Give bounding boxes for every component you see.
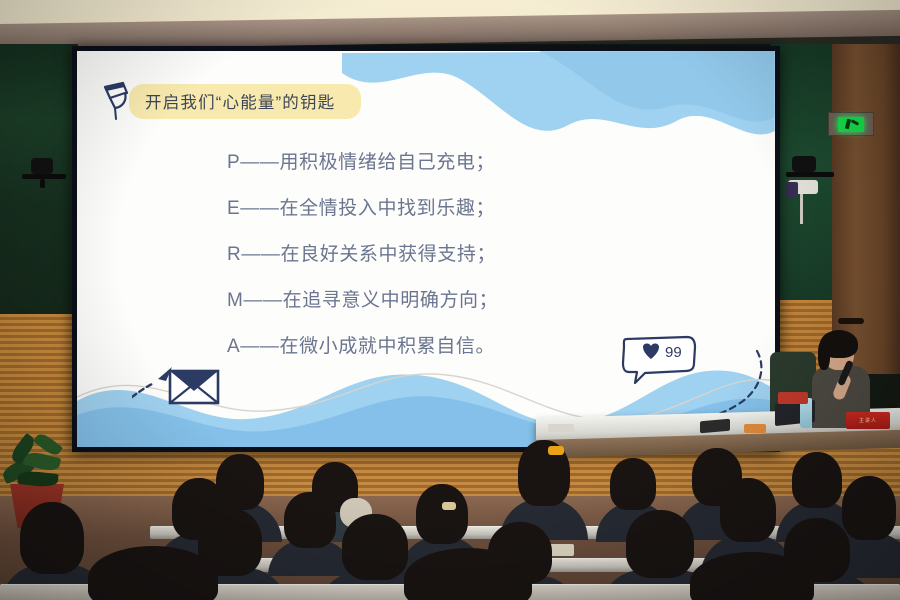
slide-line: E——在全情投入中找到乐趣； (227, 193, 498, 220)
slide-line: M——在追寻意义中明确方向； (227, 285, 498, 312)
exit-running-figure-icon (838, 117, 864, 132)
line-text: 在全情投入中找到乐趣； (279, 198, 495, 219)
emergency-exit-sign (828, 112, 874, 136)
camera-body-icon (31, 158, 53, 174)
lecture-hall-scene: 开启我们“心能量”的钥匙 P——用积极情绪给自己充电； E——在全情投入中找到乐… (0, 0, 900, 600)
line-dash: —— (241, 244, 280, 265)
student-head (690, 552, 814, 600)
line-key: M (227, 290, 243, 311)
line-dash: —— (240, 152, 279, 173)
line-dash: —— (240, 336, 279, 357)
wooden-door[interactable] (832, 44, 900, 374)
line-key: R (227, 244, 241, 265)
pushpin-icon (99, 81, 133, 121)
slide-line: P——用积极情绪给自己充电； (227, 147, 498, 174)
wall-equipment-dark (786, 182, 798, 198)
line-dash: —— (243, 290, 282, 311)
camera-shelf (786, 172, 834, 177)
student-head (88, 546, 218, 600)
envelope-icon (132, 357, 228, 413)
slide-title: 开启我们“心能量”的钥匙 (145, 89, 335, 113)
slide-line: R——在良好关系中获得支持； (227, 239, 498, 266)
student-head (610, 458, 656, 510)
line-key: E (227, 198, 240, 219)
student (88, 546, 218, 600)
slide-title-row: 开启我们“心能量”的钥匙 (99, 81, 361, 121)
student (404, 548, 532, 600)
heart-speech-bubble-icon: 99 (621, 335, 699, 385)
student-head (626, 510, 694, 578)
audience-area (0, 418, 900, 600)
line-text: 用积极情绪给自己充电； (279, 152, 495, 173)
student-head (20, 502, 84, 574)
bubble-count: 99 (665, 344, 682, 361)
hair-clip (548, 446, 564, 455)
line-key: P (227, 152, 240, 173)
slide-title-highlight: 开启我们“心能量”的钥匙 (129, 84, 361, 119)
slide-line: A——在微小成就中积累自信。 (227, 331, 498, 358)
line-key: A (227, 336, 240, 357)
door-handle[interactable] (838, 318, 864, 324)
presenter-hair-side (818, 340, 830, 370)
line-dash: —— (240, 198, 279, 219)
line-text: 在良好关系中获得支持； (281, 244, 497, 265)
line-text: 在微小成就中积累自信。 (279, 336, 495, 357)
student-head (404, 548, 532, 600)
camera-shelf (22, 174, 66, 179)
line-text: 在追寻意义中明确方向； (283, 290, 499, 311)
slide-body-lines: P——用积极情绪给自己充电； E——在全情投入中找到乐趣； R——在良好关系中获… (227, 147, 498, 377)
camera-body-icon (792, 156, 816, 172)
hair-clip (442, 502, 456, 510)
camera-mount (40, 179, 45, 188)
projection-screen: 开启我们“心能量”的钥匙 P——用积极情绪给自己充电； E——在全情投入中找到乐… (72, 46, 780, 452)
presentation-slide: 开启我们“心能量”的钥匙 P——用积极情绪给自己充电； E——在全情投入中找到乐… (77, 51, 775, 447)
ceiling-camera-right (786, 156, 834, 216)
hanging-cable (800, 194, 803, 224)
ceiling-camera-left (22, 158, 66, 188)
student (690, 552, 814, 600)
desk-red-object (778, 392, 808, 404)
student-head (342, 514, 408, 580)
